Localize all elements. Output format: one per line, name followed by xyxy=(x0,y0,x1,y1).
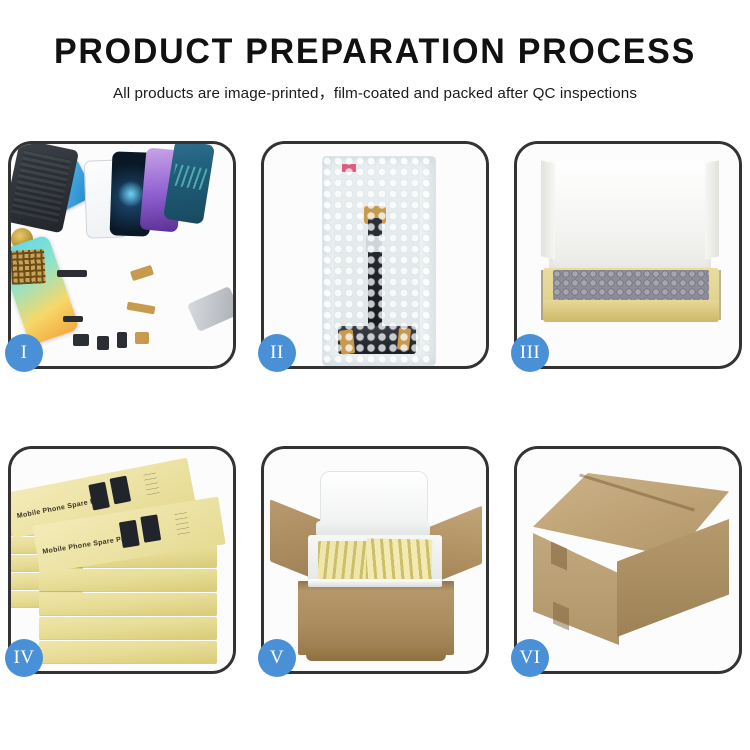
gold-tab-left xyxy=(339,329,355,354)
process-step-1: I xyxy=(8,141,236,369)
stacked-box-f5 xyxy=(39,641,217,663)
chip-grid-part xyxy=(11,249,46,285)
process-step-3: III xyxy=(514,141,742,369)
repair-tool xyxy=(187,286,233,332)
foam-cooler-rim xyxy=(308,579,442,587)
small-part-bar-3 xyxy=(73,334,89,346)
step-4-image: Mobile Phone Spare Parts ———————————————… xyxy=(11,449,233,671)
step-badge-1: I xyxy=(5,334,43,372)
page-title: PRODUCT PREPARATION PROCESS xyxy=(11,34,739,71)
step-6-image xyxy=(517,449,739,671)
small-part-bar-4 xyxy=(97,336,109,350)
process-step-2: II xyxy=(261,141,489,369)
stacked-box-f3 xyxy=(39,593,217,615)
box-screenshot-r2 xyxy=(110,476,132,505)
process-step-6: VI xyxy=(514,446,742,674)
flex-cable-1 xyxy=(130,265,154,281)
gold-tab-right xyxy=(397,327,411,350)
box-screenshot-f2 xyxy=(140,514,161,542)
process-step-5: V xyxy=(261,446,489,674)
small-part-bar-2 xyxy=(63,316,83,322)
box-lid-side-right xyxy=(705,160,719,259)
step-5-image xyxy=(264,449,486,671)
step-badge-6: VI xyxy=(511,639,549,677)
box-spec-lines-front: ——————————————— xyxy=(174,510,191,537)
driver-chip xyxy=(366,236,382,252)
carton-left-face xyxy=(533,533,619,645)
flex-cable-2 xyxy=(127,302,156,315)
step-badge-4: IV xyxy=(5,639,43,677)
box-lid-side-left xyxy=(541,160,555,259)
small-part-bar-1 xyxy=(57,270,87,277)
page-header: PRODUCT PREPARATION PROCESS All products… xyxy=(0,0,750,103)
packed-yellow-boxes-right xyxy=(366,538,433,583)
stacked-box-f2 xyxy=(39,569,217,591)
carton-body xyxy=(298,581,454,655)
yellow-box-front-face xyxy=(543,300,719,322)
process-step-grid: I II xyxy=(8,141,742,674)
open-box-lid xyxy=(549,160,711,274)
step-2-image xyxy=(264,144,486,366)
box-screenshot-f1 xyxy=(119,520,140,548)
stacked-box-f4 xyxy=(39,617,217,639)
box-spec-lines-rear: ——————————————— xyxy=(143,470,160,497)
step-badge-2: II xyxy=(258,334,296,372)
phone-logic-board xyxy=(11,144,79,233)
step-3-image xyxy=(517,144,739,366)
step-1-image xyxy=(11,144,233,366)
carton-body-base xyxy=(306,645,446,661)
small-part-bar-5 xyxy=(117,332,127,348)
step-badge-5: V xyxy=(258,639,296,677)
process-step-4: Mobile Phone Spare Parts ———————————————… xyxy=(8,446,236,674)
grey-bubble-wrap-padding xyxy=(553,270,709,300)
pink-qc-label xyxy=(342,164,356,172)
page-subtitle: All products are image-printed，film-coat… xyxy=(0,81,750,103)
flex-cable-3 xyxy=(135,332,149,344)
step-badge-3: III xyxy=(511,334,549,372)
box-screenshot-r1 xyxy=(88,482,110,511)
